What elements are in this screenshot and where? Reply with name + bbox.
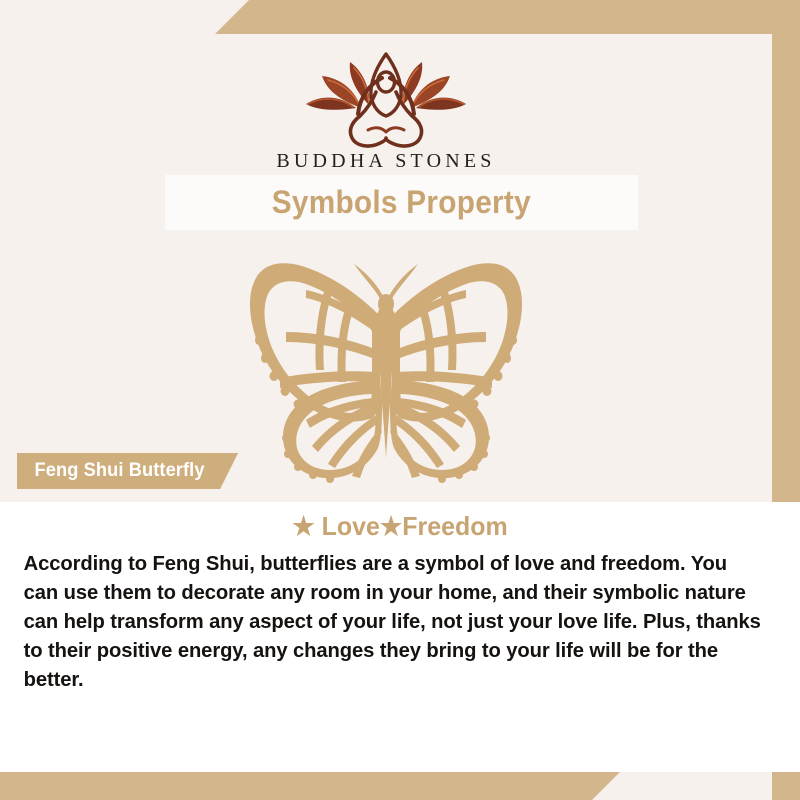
hero-panel: BUDDHA STONES Symbols Property: [0, 34, 772, 502]
monarch-butterfly-icon: [206, 252, 566, 484]
title-banner: Symbols Property: [165, 175, 638, 230]
section-body-text: According to Feng Shui, butterflies are …: [0, 549, 788, 694]
description-section: ★ Love★Freedom According to Feng Shui, b…: [0, 502, 800, 772]
lotus-meditation-figure-icon: [298, 52, 474, 148]
bottom-frame-band: [0, 772, 620, 800]
section-subheading: ★ Love★Freedom: [16, 511, 784, 542]
promo-graphic: BUDDHA STONES Symbols Property: [0, 0, 800, 800]
brand-name: BUDDHA STONES: [0, 150, 772, 173]
section-ribbon: Feng Shui Butterfly: [17, 453, 238, 489]
page-title: Symbols Property: [272, 184, 531, 221]
ribbon-label: Feng Shui Butterfly: [35, 460, 205, 482]
brand-logo: BUDDHA STONES: [0, 52, 772, 173]
top-frame-band: [215, 0, 800, 34]
